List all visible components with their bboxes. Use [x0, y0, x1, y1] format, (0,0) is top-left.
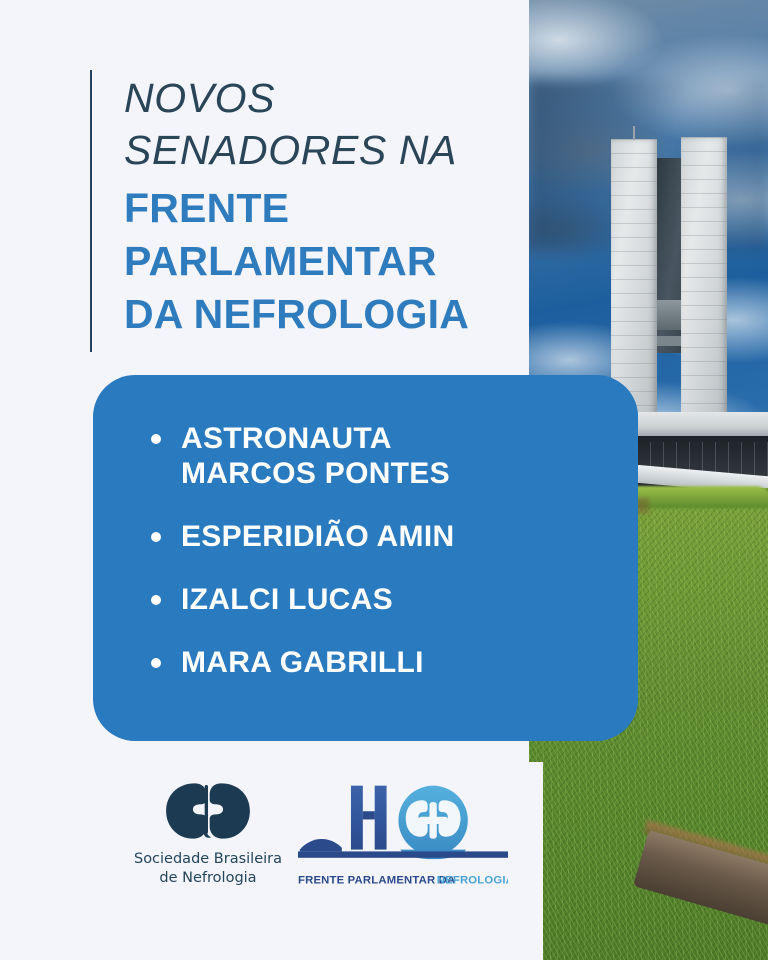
tower-antenna — [633, 126, 635, 140]
senator-name-line-1: ESPERIDIÃO AMIN — [181, 520, 454, 553]
fpn-ground-bar — [298, 851, 508, 857]
fpn-caption: FRENTE PARLAMENTAR DA NEFROLOGIA — [298, 872, 508, 888]
fpn-tower-right — [375, 786, 387, 850]
list-item: ESPERIDIÃO AMIN — [145, 519, 618, 554]
headline-bold-line-2: PARLAMENTAR — [124, 235, 524, 288]
fpn-logo: FRENTE PARLAMENTAR DA NEFROLOGIA — [298, 782, 518, 888]
bullet-dot-icon — [151, 595, 161, 605]
senators-list: ASTRONAUTA MARCOS PONTES ESPERIDIÃO AMIN… — [145, 421, 618, 680]
headline-bold-line-1: FRENTE — [124, 182, 524, 235]
senator-name-line-1: ASTRONAUTA — [181, 422, 392, 455]
fpn-congress-kidney-icon — [298, 782, 508, 877]
list-item: MARA GABRILLI — [145, 645, 618, 680]
list-item: IZALCI LUCAS — [145, 582, 618, 617]
tower-seam-texture — [611, 139, 657, 417]
fpn-tower-left — [351, 786, 363, 850]
page-title: NOVOS SENADORES NA FRENTE PARLAMENTAR DA… — [124, 72, 524, 341]
senator-name-line-1: MARA GABRILLI — [181, 646, 424, 679]
bullet-dot-icon — [151, 532, 161, 542]
tower-sky-bridge — [657, 300, 681, 330]
headline-italic-line-2: SENADORES NA — [124, 124, 524, 176]
logo-row: Sociedade Brasileira de Nefrologia — [108, 780, 518, 900]
senator-name-line-2: MARCOS PONTES — [181, 457, 450, 490]
sbn-caption-line-2: de Nefrologia — [108, 869, 308, 888]
bullet-dot-icon — [151, 434, 161, 444]
fpn-caption-light: NEFROLOGIA — [437, 875, 508, 887]
fpn-caption-dark: FRENTE PARLAMENTAR DA — [298, 875, 455, 887]
headline-bold-line-3: DA NEFROLOGIA — [124, 288, 524, 341]
headline-vertical-rule — [90, 70, 92, 352]
photo-left-margin-strip — [529, 762, 543, 960]
fpn-dome-shape — [300, 839, 342, 851]
senators-card: ASTRONAUTA MARCOS PONTES ESPERIDIÃO AMIN… — [93, 375, 638, 741]
tower-seam-texture — [681, 137, 727, 417]
poster: NOVOS SENADORES NA FRENTE PARLAMENTAR DA… — [0, 0, 768, 960]
senator-name-line-1: IZALCI LUCAS — [181, 583, 393, 616]
sbn-kidney-icon — [153, 780, 263, 842]
sbn-logo: Sociedade Brasileira de Nefrologia — [108, 780, 308, 888]
fpn-tower-bridge — [363, 811, 375, 819]
sbn-caption-line-1: Sociedade Brasileira — [108, 850, 308, 869]
headline-italic-line-1: NOVOS — [124, 72, 524, 124]
tower-sky-bridge-lower — [657, 336, 681, 346]
sbn-caption: Sociedade Brasileira de Nefrologia — [108, 850, 308, 888]
congress-tower-right — [681, 137, 727, 417]
congress-tower-left — [611, 139, 657, 417]
bullet-dot-icon — [151, 658, 161, 668]
list-item: ASTRONAUTA MARCOS PONTES — [145, 421, 618, 491]
